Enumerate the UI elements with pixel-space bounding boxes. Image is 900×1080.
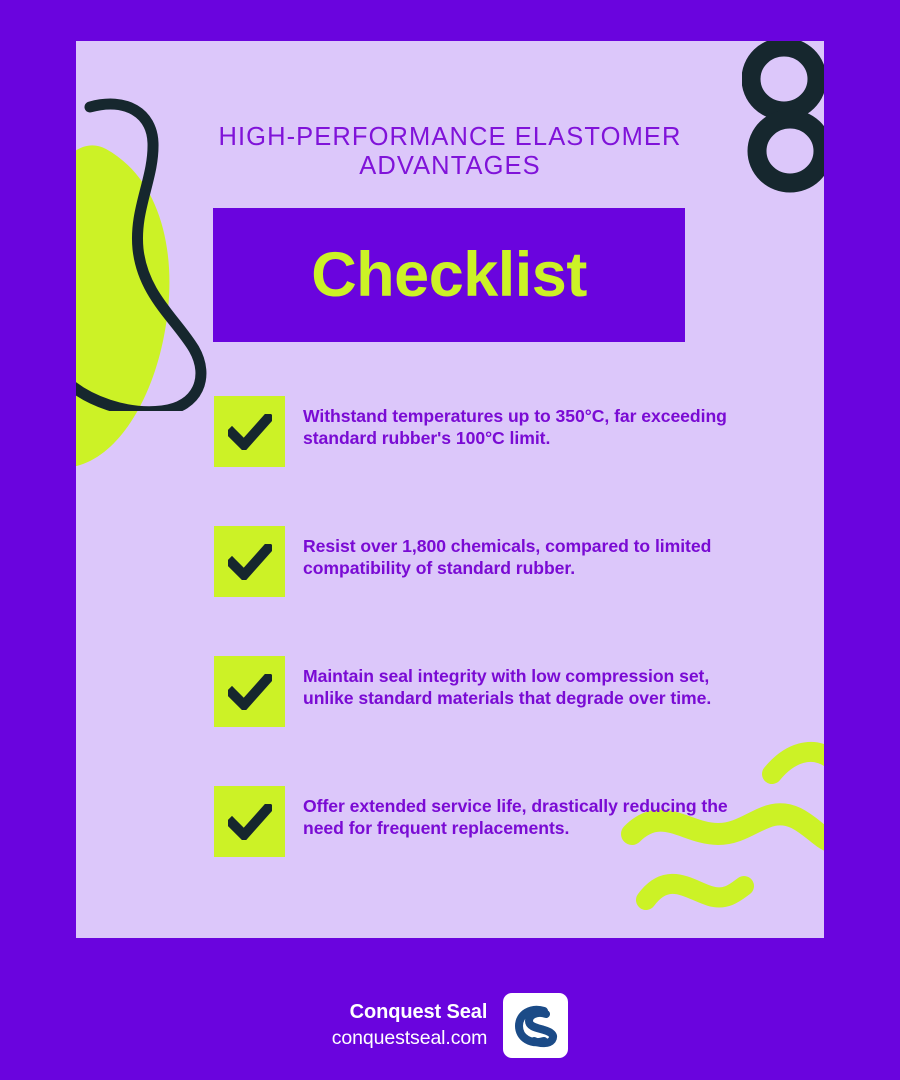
list-item: Maintain seal integrity with low compres… <box>214 656 734 727</box>
checkbox-checked[interactable] <box>214 396 285 467</box>
checklist: Withstand temperatures up to 350°C, far … <box>214 396 734 857</box>
checkbox-checked[interactable] <box>214 656 285 727</box>
list-item: Resist over 1,800 chemicals, compared to… <box>214 526 734 597</box>
poster-canvas: HIGH-PERFORMANCE ELASTOMER ADVANTAGES Ch… <box>0 0 900 1080</box>
checkmark-icon <box>228 544 272 580</box>
cs-monogram-icon <box>511 1001 561 1051</box>
conquest-seal-logo <box>503 993 568 1058</box>
brand-name: Conquest Seal <box>332 1000 488 1026</box>
banner-title: Checklist <box>311 244 587 307</box>
checkbox-checked[interactable] <box>214 786 285 857</box>
list-item-label: Resist over 1,800 chemicals, compared to… <box>303 526 734 580</box>
checkbox-checked[interactable] <box>214 526 285 597</box>
checkmark-icon <box>228 804 272 840</box>
list-item: Withstand temperatures up to 350°C, far … <box>214 396 734 467</box>
poster-card: HIGH-PERFORMANCE ELASTOMER ADVANTAGES Ch… <box>76 41 824 938</box>
checkmark-icon <box>228 674 272 710</box>
list-item: Offer extended service life, drastically… <box>214 786 734 857</box>
page-title: HIGH-PERFORMANCE ELASTOMER ADVANTAGES <box>76 123 824 180</box>
checklist-banner: Checklist <box>213 208 685 342</box>
list-item-label: Offer extended service life, drastically… <box>303 786 734 840</box>
footer-text-block: Conquest Seal conquestseal.com <box>332 1000 488 1051</box>
brand-website[interactable]: conquestseal.com <box>332 1026 488 1051</box>
list-item-label: Withstand temperatures up to 350°C, far … <box>303 396 734 450</box>
list-item-label: Maintain seal integrity with low compres… <box>303 656 734 710</box>
footer: Conquest Seal conquestseal.com <box>0 993 900 1058</box>
checkmark-icon <box>228 414 272 450</box>
